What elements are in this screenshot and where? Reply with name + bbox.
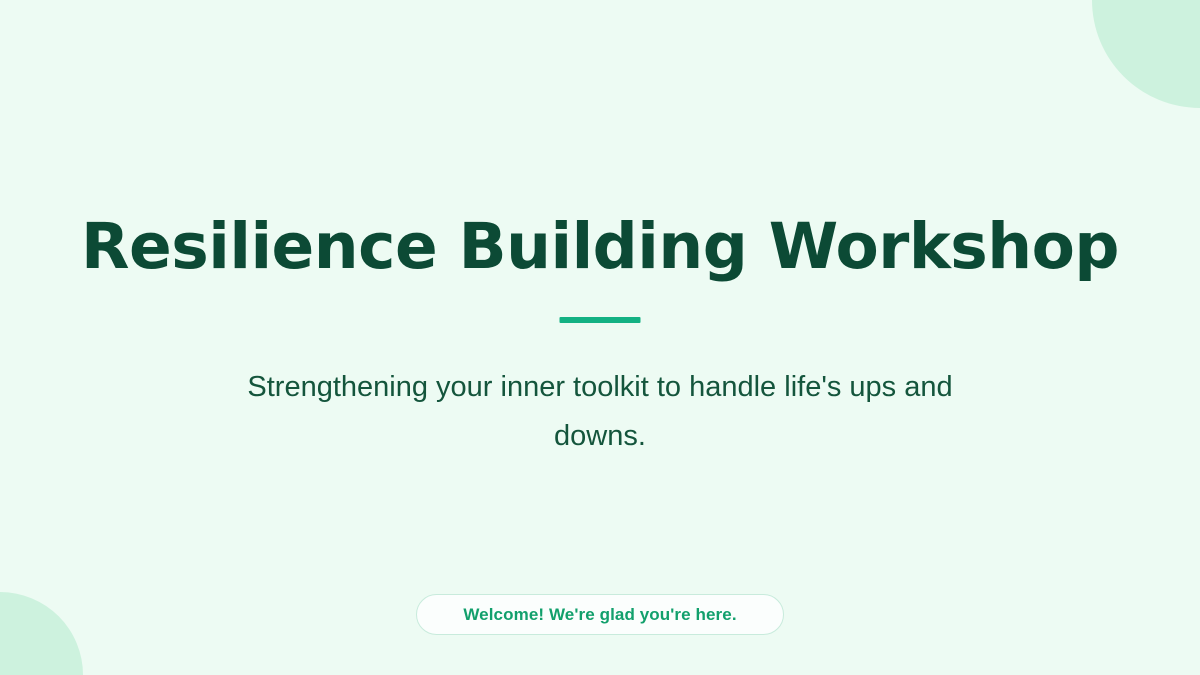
title-slide: Resilience Building Workshop Strengtheni… <box>0 0 1200 675</box>
divider-rule <box>560 317 641 323</box>
welcome-badge: Welcome! We're glad you're here. <box>416 594 784 635</box>
slide-subtitle: Strengthening your inner toolkit to hand… <box>230 363 970 461</box>
slide-title: Resilience Building Workshop <box>40 213 1160 281</box>
slide-content: Resilience Building Workshop Strengtheni… <box>0 0 1200 675</box>
